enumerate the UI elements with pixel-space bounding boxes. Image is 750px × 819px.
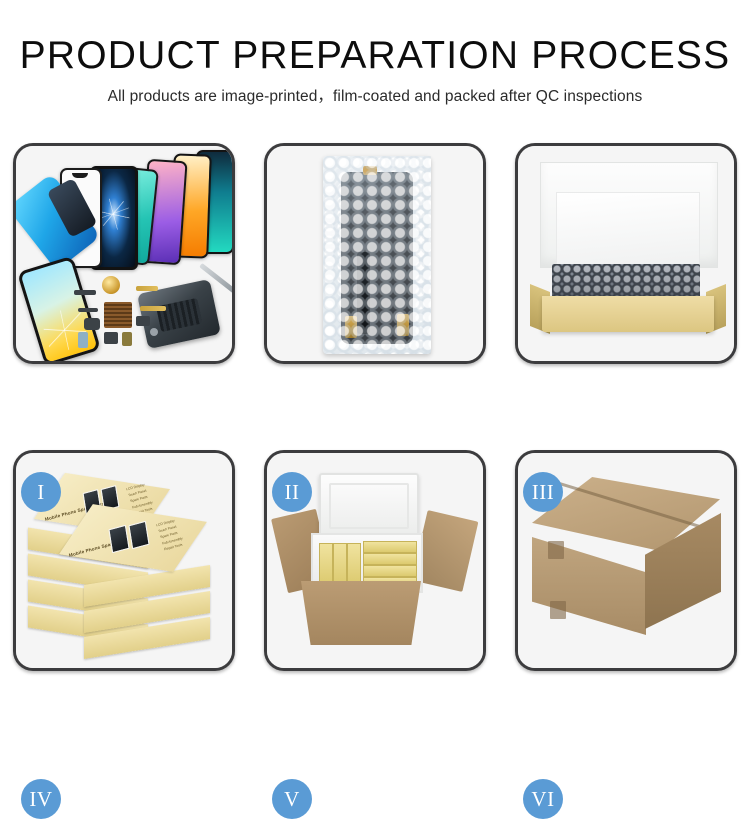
box-screen-art-front-2 [128,521,149,549]
gold-contact-right [397,314,409,336]
step-badge-6: VI [523,779,563,819]
part-flex-cable-2 [140,306,166,311]
packed-box-1 [319,543,333,585]
step-badge-3: III [523,472,563,512]
panel-inner-box [515,143,737,364]
panel-products [13,143,235,364]
step-badge-1: I [21,472,61,512]
step-badge-2: II [272,472,312,512]
flex-cable-tail [357,252,370,334]
carton-tape-patch-bottom [550,601,566,619]
packed-box-3 [347,543,361,585]
part-flex-cable-1 [136,286,158,291]
packed-box-4 [363,541,417,553]
part-connector [74,290,96,295]
gold-chip [102,276,120,294]
packed-box-6 [363,565,417,577]
page-title: PRODUCT PREPARATION PROCESS [0,34,750,78]
styrofoam-lid [319,473,419,539]
page-header: PRODUCT PREPARATION PROCESS All products… [0,0,750,106]
part-module-3 [104,332,118,344]
carton-body [301,581,421,645]
spare-parts-cluster [74,274,194,354]
bubble-wrap-bag [323,156,431,354]
inner-box-front [542,296,714,332]
step-badge-4: IV [21,779,61,819]
product-photo-2 [267,146,483,361]
part-strip-1 [78,308,98,312]
part-camera-lens [78,332,88,348]
packed-box-2 [333,543,347,585]
part-screw [150,328,158,336]
white-foam-sheet [556,192,700,266]
part-module-2 [136,316,150,326]
page-subtitle: All products are image-printed，film-coat… [0,87,750,106]
gold-contact-left [345,316,357,338]
part-battery-tab [122,332,132,346]
panel-bubble-wrap [264,143,486,364]
antistatic-bubble-wrap [552,264,700,300]
process-step-grid: Mobile Phone Spare Parts LCD Display Tou… [13,143,737,671]
box-screen-art-front-1 [108,525,129,553]
packed-box-5 [363,553,417,565]
part-bga-grid [104,302,132,328]
part-module-1 [84,318,100,330]
product-photo-1 [16,146,232,361]
product-photo-3 [518,146,734,361]
carton-tape-patch-top [548,541,564,559]
step-badge-5: V [272,779,312,819]
